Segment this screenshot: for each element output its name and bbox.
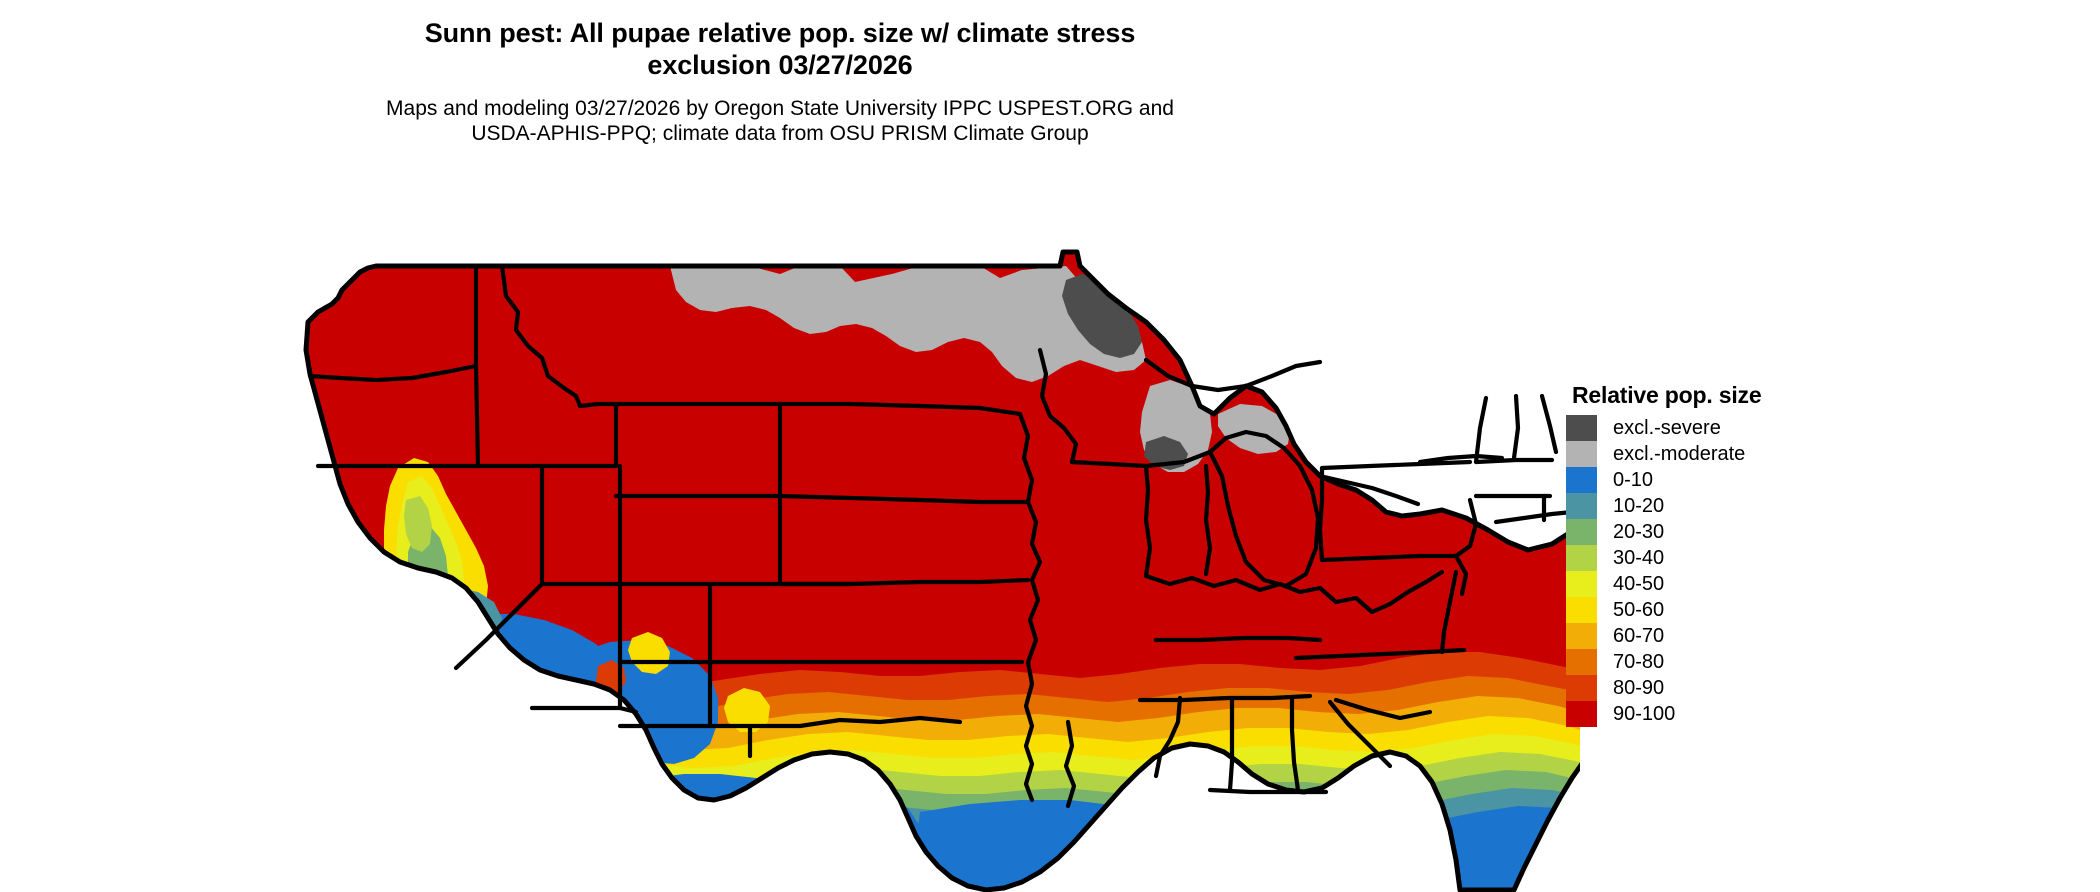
legend-label: 70-80: [1613, 652, 1664, 672]
map-canvas[interactable]: [280, 200, 1580, 892]
legend-items: excl.-severeexcl.-moderate0-1010-2020-30…: [1566, 415, 1926, 727]
legend-color-swatch: [1566, 519, 1597, 545]
border-fl-north: [1210, 790, 1326, 792]
border-ne-ks: [780, 582, 920, 584]
border-al-ms: [1230, 698, 1232, 790]
legend-row: 50-60: [1566, 597, 1926, 623]
legend-color-swatch: [1566, 701, 1597, 727]
legend-label: 20-30: [1613, 522, 1664, 542]
legend-label: 10-20: [1613, 496, 1664, 516]
page-subtitle: Maps and modeling 03/27/2026 by Oregon S…: [0, 97, 1560, 147]
border-or-id: [476, 266, 478, 466]
legend-color-swatch: [1566, 649, 1597, 675]
map-page: Sunn pest: All pupae relative pop. size …: [0, 0, 2100, 892]
legend-label: 40-50: [1613, 574, 1664, 594]
legend-color-swatch: [1566, 415, 1597, 441]
border-oh-pa: [1320, 468, 1322, 560]
legend-row: 30-40: [1566, 545, 1926, 571]
border-nd-sd: [780, 404, 920, 406]
legend-row: 70-80: [1566, 649, 1926, 675]
legend-color-swatch: [1566, 493, 1597, 519]
legend-row: 80-90: [1566, 675, 1926, 701]
page-title: Sunn pest: All pupae relative pop. size …: [0, 18, 1560, 81]
legend-row: excl.-moderate: [1566, 441, 1926, 467]
border-ky-tn: [1156, 638, 1320, 640]
legend-label: excl.-severe: [1613, 418, 1721, 438]
legend-color-swatch: [1566, 441, 1597, 467]
legend-label: 0-10: [1613, 470, 1653, 490]
border-ia-mo: [920, 500, 1028, 502]
us-choropleth-map[interactable]: [280, 200, 1580, 892]
legend-color-swatch: [1566, 571, 1597, 597]
legend-color-swatch: [1566, 623, 1597, 649]
legend-label: excl.-moderate: [1613, 444, 1745, 464]
title-block: Sunn pest: All pupae relative pop. size …: [0, 18, 1560, 147]
legend-row: 40-50: [1566, 571, 1926, 597]
legend-row: 0-10: [1566, 467, 1926, 493]
legend-color-swatch: [1566, 467, 1597, 493]
border-vt-ma: [1476, 460, 1552, 462]
legend-row: 10-20: [1566, 493, 1926, 519]
legend-row: 90-100: [1566, 701, 1926, 727]
legend-label: 80-90: [1613, 678, 1664, 698]
legend-label: 60-70: [1613, 626, 1664, 646]
legend-title: Relative pop. size: [1572, 382, 1926, 409]
legend-label: 50-60: [1613, 600, 1664, 620]
legend-row: 60-70: [1566, 623, 1926, 649]
legend-row: 20-30: [1566, 519, 1926, 545]
legend-color-swatch: [1566, 675, 1597, 701]
legend: Relative pop. size excl.-severeexcl.-mod…: [1566, 382, 1926, 727]
legend-row: excl.-severe: [1566, 415, 1926, 441]
legend-color-swatch: [1566, 597, 1597, 623]
legend-color-swatch: [1566, 545, 1597, 571]
legend-label: 30-40: [1613, 548, 1664, 568]
legend-label: 90-100: [1613, 704, 1675, 724]
border-mo-ar: [920, 580, 1028, 582]
